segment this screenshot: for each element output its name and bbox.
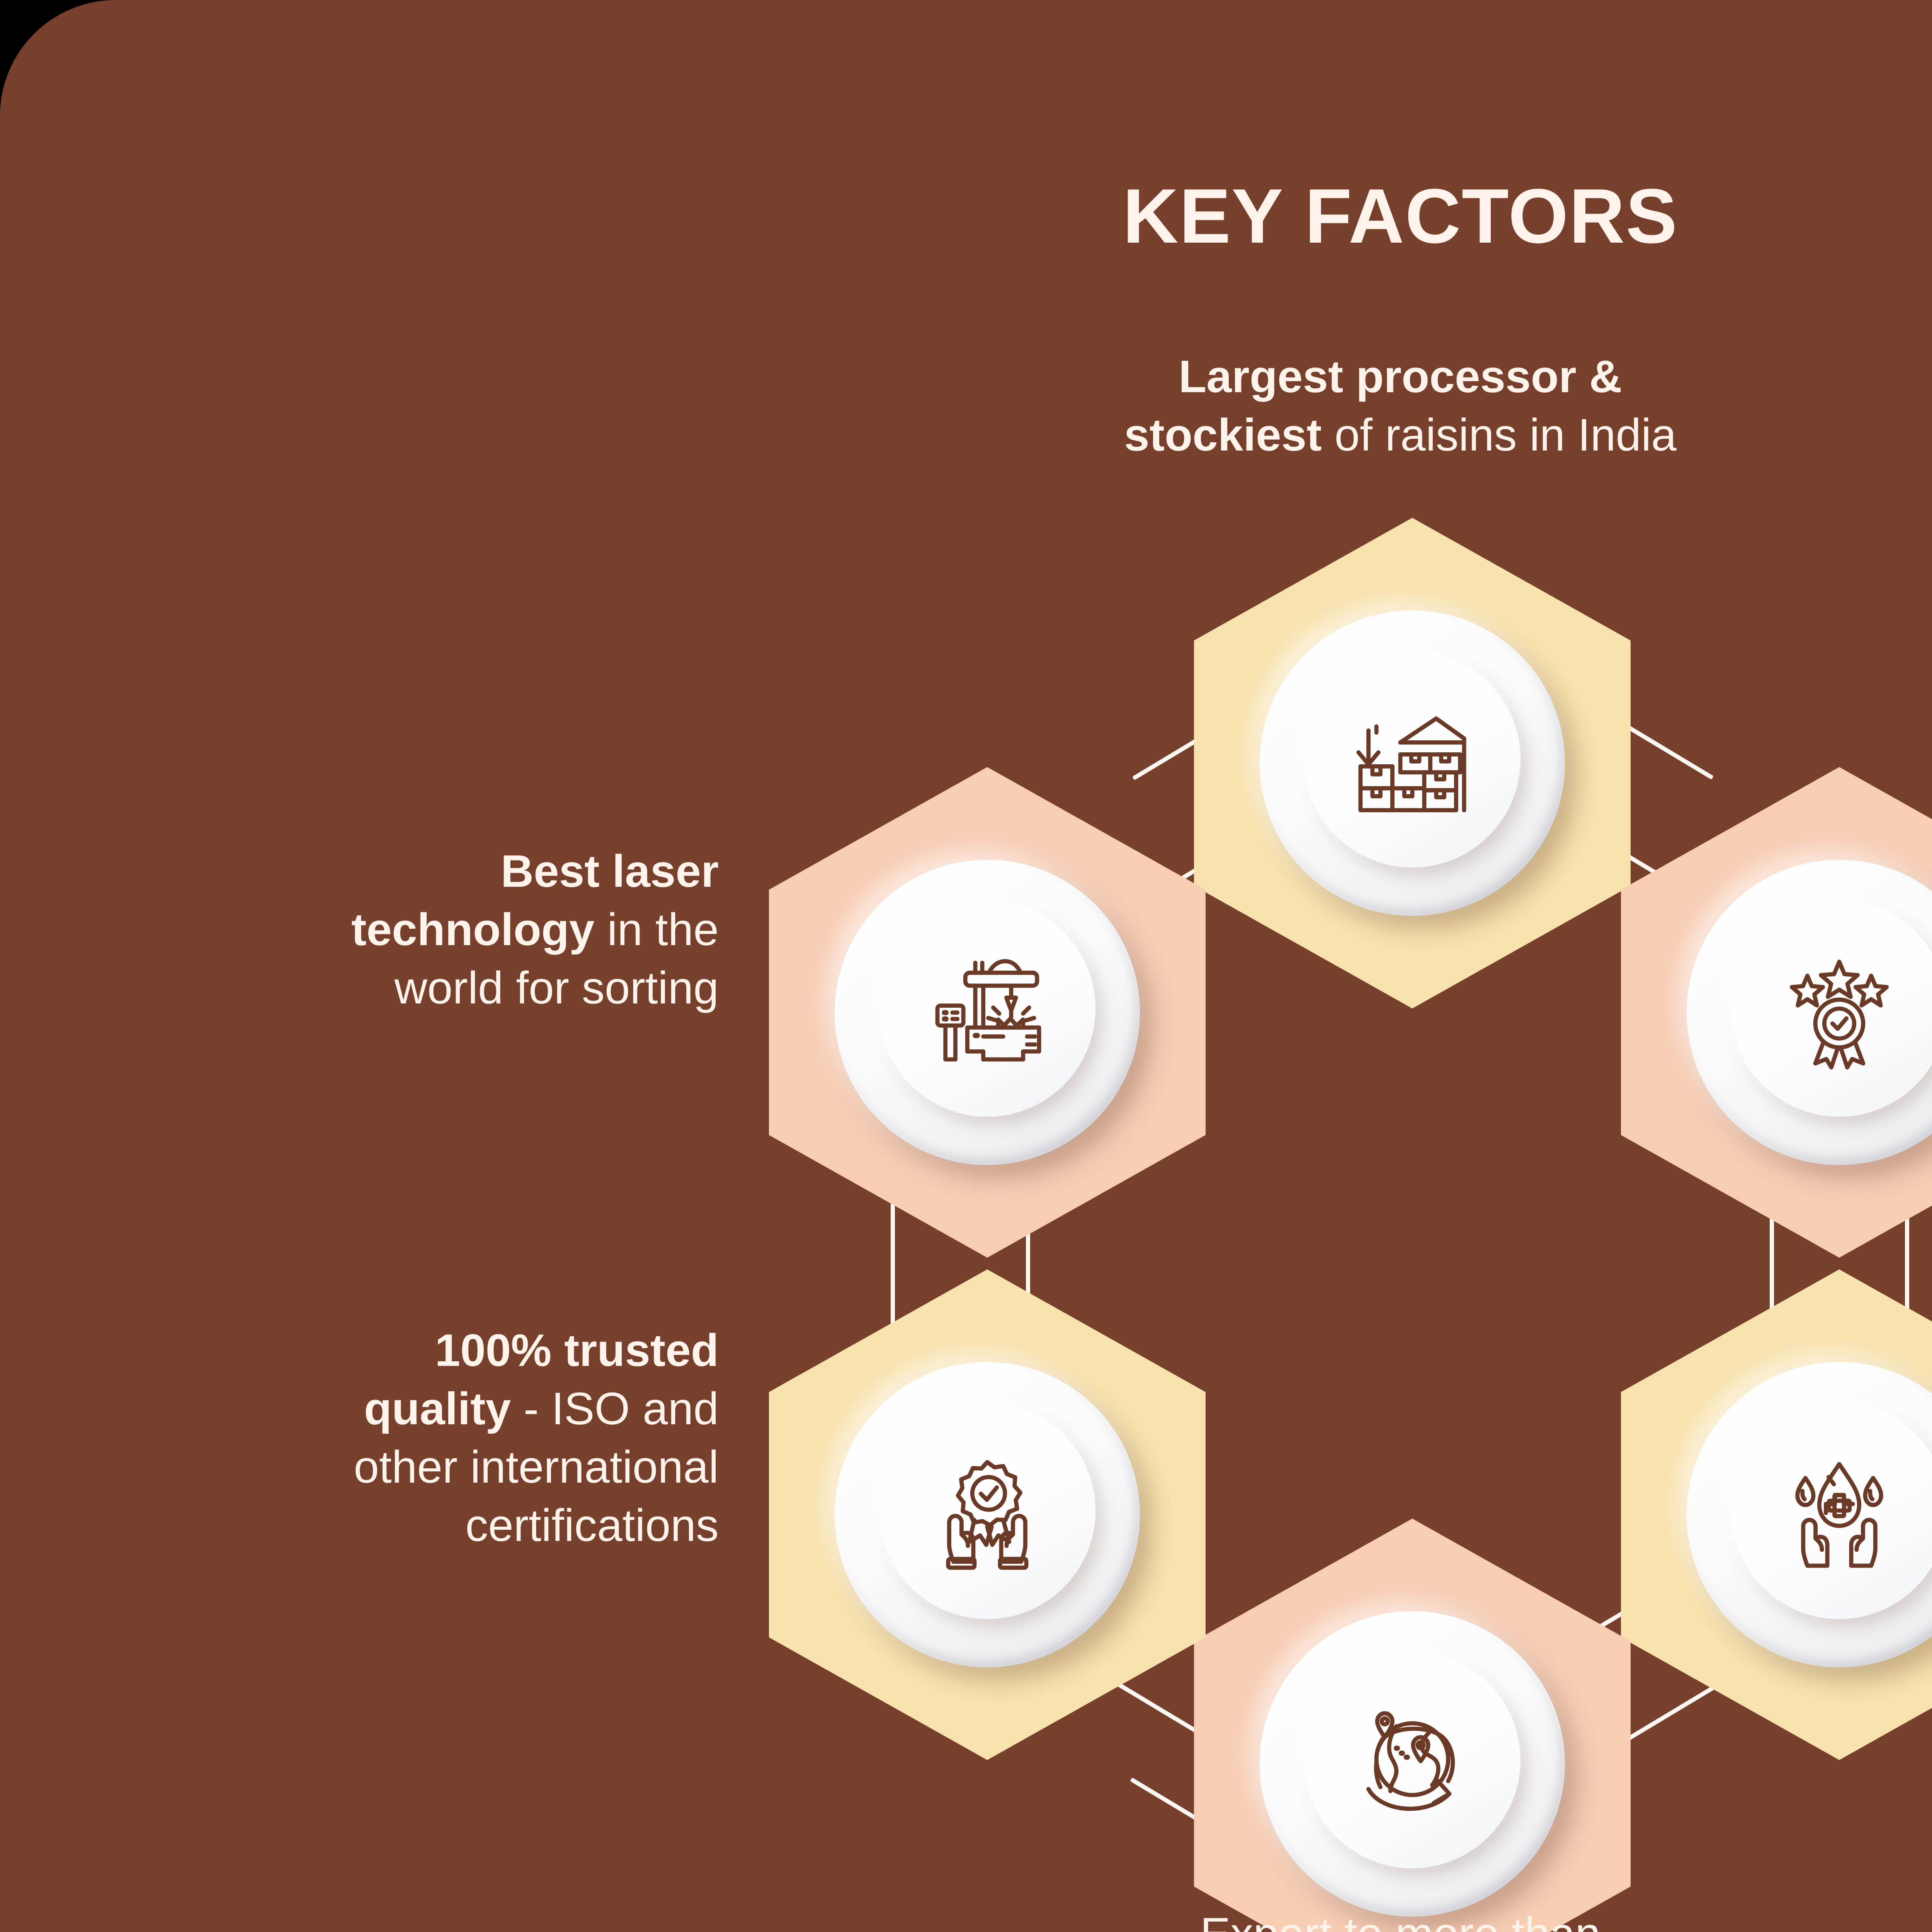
warehouse-storage-icon [1343, 693, 1482, 832]
hexagon-43-years[interactable] [1621, 767, 1932, 1258]
caption-export: Export to more than 30 countries worldwi… [917, 1905, 1883, 1932]
caption-largest-processor: Largest processor & stockiest of raisins… [917, 348, 1883, 464]
caption-normal-4: certifications [465, 1500, 719, 1551]
caption-bold-1: Best laser [501, 846, 719, 897]
award-badge-stars-icon [1770, 942, 1909, 1081]
laser-sorting-machine-icon [918, 942, 1057, 1081]
hexagon-largest-processor[interactable] [1194, 518, 1631, 1009]
caption-bold-2: stockiest [1124, 410, 1322, 461]
infographic-canvas: KEY FACTORS [0, 0, 1932, 1932]
caption-bold-2: quality [364, 1383, 511, 1434]
hexagon-hygienic[interactable] [1621, 1269, 1932, 1760]
caption-normal-1: Export to more than [1200, 1908, 1600, 1932]
caption-trusted-quality: 100% trusted quality - ISO and other int… [46, 1321, 719, 1555]
caption-bold-1: Largest processor & [1179, 351, 1622, 402]
caption-laser-technology: Best laser technology in the world for s… [46, 842, 719, 1017]
caption-normal-2: of raisins in India [1322, 410, 1677, 461]
hands-quality-rosette-icon [918, 1444, 1057, 1583]
hexagon-export[interactable] [1194, 1519, 1631, 1932]
caption-normal-2: in the [595, 904, 719, 955]
hexagon-laser-technology[interactable] [769, 767, 1206, 1258]
caption-bold-1: 100% trusted [435, 1325, 719, 1376]
hands-hygiene-droplet-icon [1770, 1444, 1909, 1583]
caption-normal-2: - ISO and [511, 1383, 719, 1434]
caption-normal-3: other international [354, 1442, 719, 1493]
caption-bold-2: technology [351, 904, 594, 955]
globe-export-arrow-icon [1343, 1694, 1482, 1833]
hexagon-trusted-quality[interactable] [769, 1269, 1206, 1760]
caption-normal-3: world for sorting [395, 963, 719, 1014]
